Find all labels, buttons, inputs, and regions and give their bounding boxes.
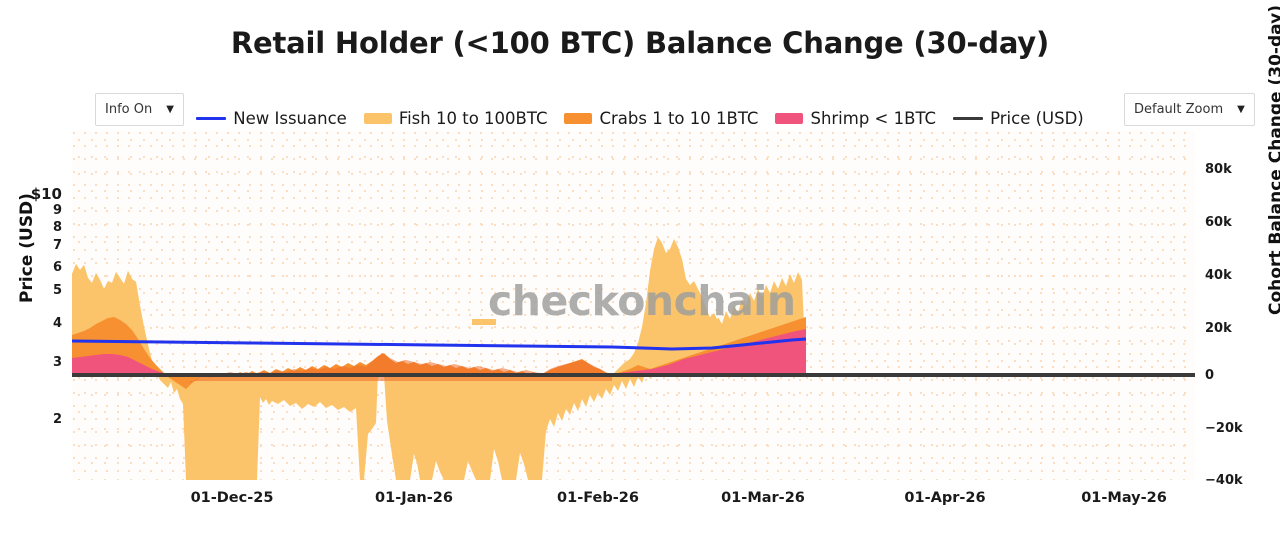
x-axis-tick: 01-Dec-25: [191, 490, 274, 506]
info-dropdown[interactable]: Info On ▼: [95, 93, 184, 126]
y-axis-right-tick: 0: [1205, 368, 1214, 383]
y-axis-left-tick: 8: [53, 220, 62, 235]
legend-label: New Issuance: [233, 109, 347, 128]
y-axis-right-label: Cohort Balance Change (30-day): [1266, 0, 1280, 325]
chevron-down-icon: ▼: [1237, 105, 1245, 115]
chevron-down-icon: ▼: [166, 105, 174, 115]
y-axis-right-tick: 40k: [1205, 268, 1232, 283]
info-dropdown-label: Info On: [105, 102, 152, 117]
legend-item-crabs[interactable]: Crabs 1 to 10 1BTC: [564, 109, 758, 128]
y-axis-left-tick: 9: [53, 203, 62, 218]
legend-item-fish[interactable]: Fish 10 to 100BTC: [364, 109, 548, 128]
y-axis-right-tick: −20k: [1205, 421, 1243, 436]
zoom-dropdown-label: Default Zoom: [1134, 102, 1223, 117]
chart-page: Retail Holder (<100 BTC) Balance Change …: [0, 0, 1280, 551]
y-axis-left-tick: 3: [53, 355, 62, 370]
legend-item-new-issuance[interactable]: New Issuance: [196, 109, 347, 128]
x-axis-tick: 01-May-26: [1081, 490, 1167, 506]
legend-swatch-box-icon: [364, 113, 392, 124]
page-title: Retail Holder (<100 BTC) Balance Change …: [0, 26, 1280, 60]
legend-label: Crabs 1 to 10 1BTC: [599, 109, 758, 128]
x-axis-tick: 01-Mar-26: [721, 490, 805, 506]
y-axis-left-tick: 5: [53, 283, 62, 298]
y-axis-left-label: Price (USD): [17, 183, 37, 313]
y-axis-right-tick: 80k: [1205, 162, 1232, 177]
legend-swatch-line-icon: [196, 117, 226, 120]
chart-legend: New Issuance Fish 10 to 100BTC Crabs 1 t…: [190, 105, 1090, 131]
legend-swatch-box-icon: [564, 113, 592, 124]
y-axis-right-tick: 60k: [1205, 215, 1232, 230]
legend-swatch-box-icon: [775, 113, 803, 124]
legend-item-shrimp[interactable]: Shrimp < 1BTC: [775, 109, 936, 128]
y-axis-left-tick: 4: [53, 316, 62, 331]
y-axis-right-tick: 20k: [1205, 321, 1232, 336]
x-axis-tick: 01-Apr-26: [904, 490, 985, 506]
legend-label: Shrimp < 1BTC: [810, 109, 936, 128]
y-axis-left-tick: 7: [53, 238, 62, 253]
y-axis-left-tick: 6: [53, 260, 62, 275]
zoom-dropdown[interactable]: Default Zoom ▼: [1124, 93, 1255, 126]
x-axis-tick: 01-Jan-26: [375, 490, 453, 506]
legend-item-price[interactable]: Price (USD): [953, 109, 1084, 128]
y-axis-left-tick: 2: [53, 412, 62, 427]
y-axis-right-tick: −40k: [1205, 473, 1243, 488]
legend-swatch-line-icon: [953, 117, 983, 120]
annotation-marker: [472, 319, 496, 325]
chart-plot-area: checkonchain: [72, 131, 1195, 480]
legend-label: Fish 10 to 100BTC: [399, 109, 548, 128]
series-area-crabs-edge: [190, 353, 612, 383]
x-axis-tick: 01-Feb-26: [557, 490, 639, 506]
chart-svg: [72, 131, 1195, 480]
legend-label: Price (USD): [990, 109, 1084, 128]
